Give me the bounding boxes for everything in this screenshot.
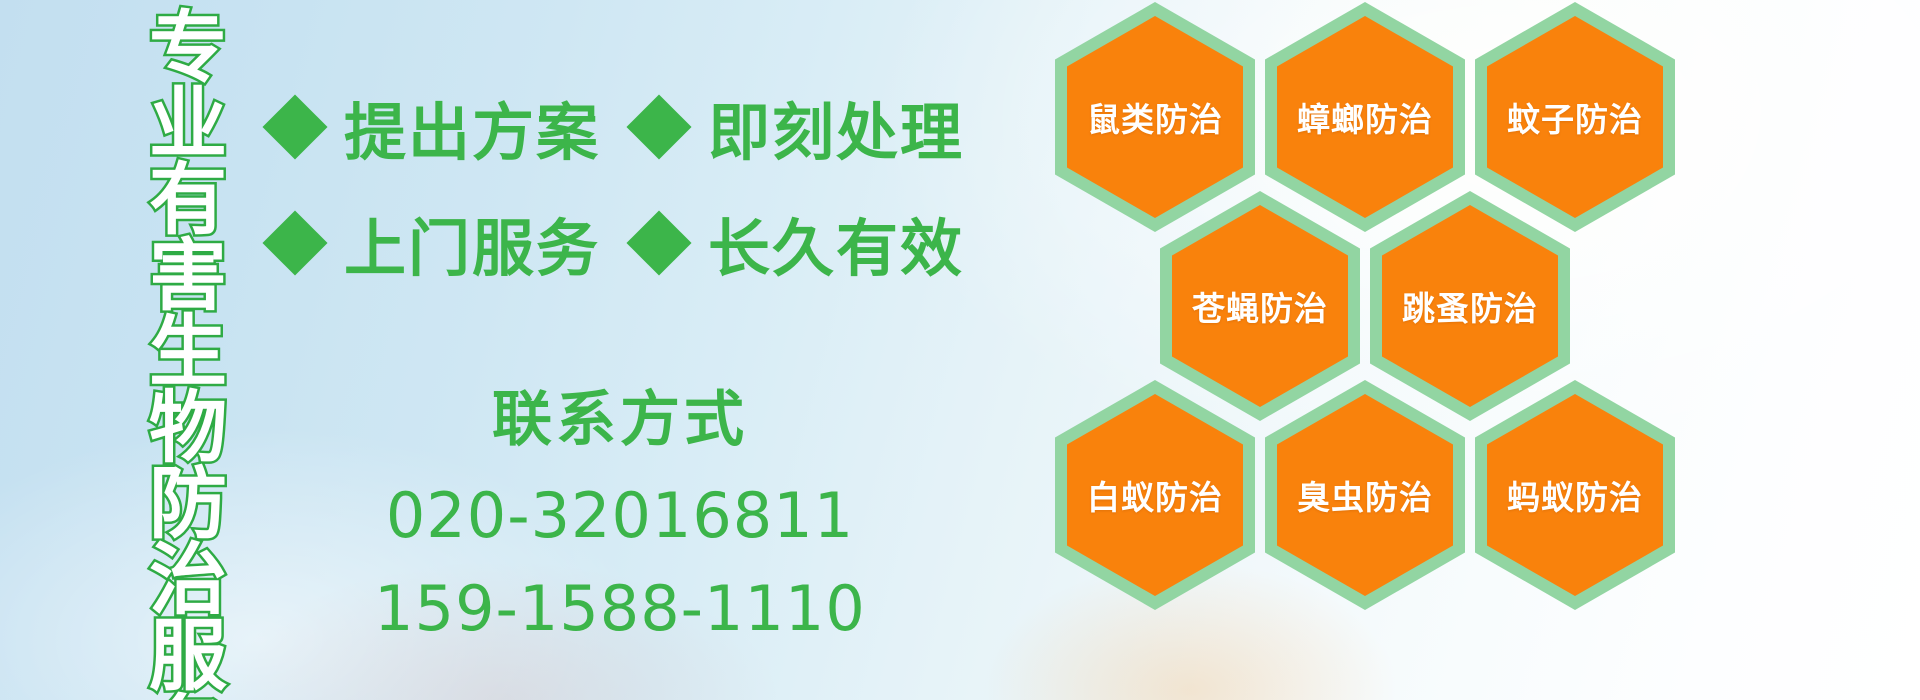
slogan-item-onsite: 上门服务 [272, 198, 600, 288]
diamond-icon [626, 210, 691, 275]
service-label: 苍蝇防治 [1192, 282, 1328, 330]
slogan-row-1: 提出方案 即刻处理 [272, 82, 964, 172]
slogan-label: 即刻处理 [708, 82, 964, 172]
service-hex-termite[interactable]: 白蚁防治 [1055, 380, 1255, 610]
service-label: 蚊子防治 [1507, 93, 1643, 141]
service-label: 蟑螂防治 [1297, 93, 1433, 141]
slogan-label: 长久有效 [708, 198, 964, 288]
diamond-icon [626, 94, 691, 159]
service-hex-bedbug[interactable]: 臭虫防治 [1265, 380, 1465, 610]
service-label: 白蚁防治 [1087, 471, 1223, 519]
contact-block: 联系方式 020-32016811 159-1588-1110 [330, 390, 910, 649]
service-label: 跳蚤防治 [1402, 282, 1538, 330]
slogan-item-proposal: 提出方案 [272, 82, 600, 172]
phone-number-landline[interactable]: 020-32016811 [330, 476, 910, 555]
slogan-row-2: 上门服务 长久有效 [272, 198, 964, 288]
slogan-item-longlasting: 长久有效 [636, 198, 964, 288]
service-label: 蚂蚁防治 [1507, 471, 1643, 519]
pest-control-banner: 专业有害生物防治服务 提出方案 即刻处理 上门服务 长久有效 联系方式 020-… [0, 0, 1920, 700]
slogan-label: 上门服务 [344, 198, 600, 288]
phone-number-mobile[interactable]: 159-1588-1110 [330, 569, 910, 648]
service-hexagon-grid: 鼠类防治 蟑螂防治 蚊子防治 苍蝇防治 跳蚤防治 [1055, 0, 1785, 700]
contact-title: 联系方式 [330, 390, 910, 450]
slogan-label: 提出方案 [344, 82, 600, 172]
slogan-item-immediate: 即刻处理 [636, 82, 964, 172]
service-hex-ant[interactable]: 蚂蚁防治 [1475, 380, 1675, 610]
diamond-icon [262, 210, 327, 275]
service-label: 臭虫防治 [1297, 471, 1433, 519]
service-label: 鼠类防治 [1087, 93, 1223, 141]
diamond-icon [262, 94, 327, 159]
vertical-headline: 专业有害生物防治服务 [108, 6, 220, 700]
